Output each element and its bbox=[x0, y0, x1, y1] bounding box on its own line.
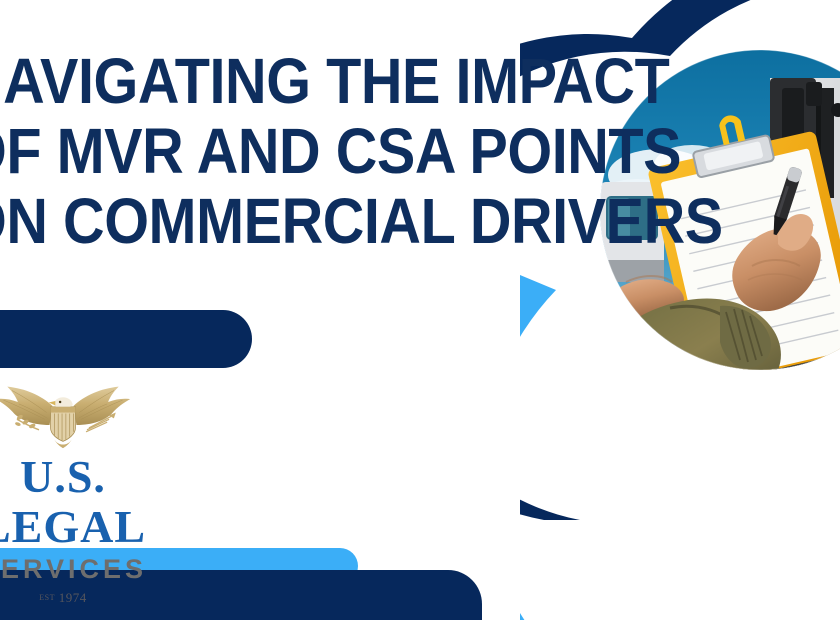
logo-subtitle: SERVICES bbox=[0, 554, 188, 584]
logo: U.S. LEGAL SERVICES EST 1974 bbox=[0, 378, 188, 606]
banner-canvas: NAVIGATING THE IMPACT OF MVR AND CSA POI… bbox=[0, 0, 840, 620]
logo-est-word: EST bbox=[39, 593, 55, 602]
logo-name: U.S. LEGAL bbox=[0, 452, 188, 552]
navy-pill-bar bbox=[0, 310, 252, 368]
logo-established: EST 1974 bbox=[0, 590, 188, 606]
eagle-emblem-icon bbox=[0, 378, 138, 450]
logo-est-year: 1974 bbox=[59, 590, 87, 605]
headline-line-3: ON COMMERCIAL DRIVERS bbox=[0, 186, 556, 256]
headline-line-2: OF MVR AND CSA POINTS bbox=[0, 116, 556, 186]
headline: NAVIGATING THE IMPACT OF MVR AND CSA POI… bbox=[0, 46, 622, 256]
headline-line-1: NAVIGATING THE IMPACT bbox=[0, 46, 556, 116]
